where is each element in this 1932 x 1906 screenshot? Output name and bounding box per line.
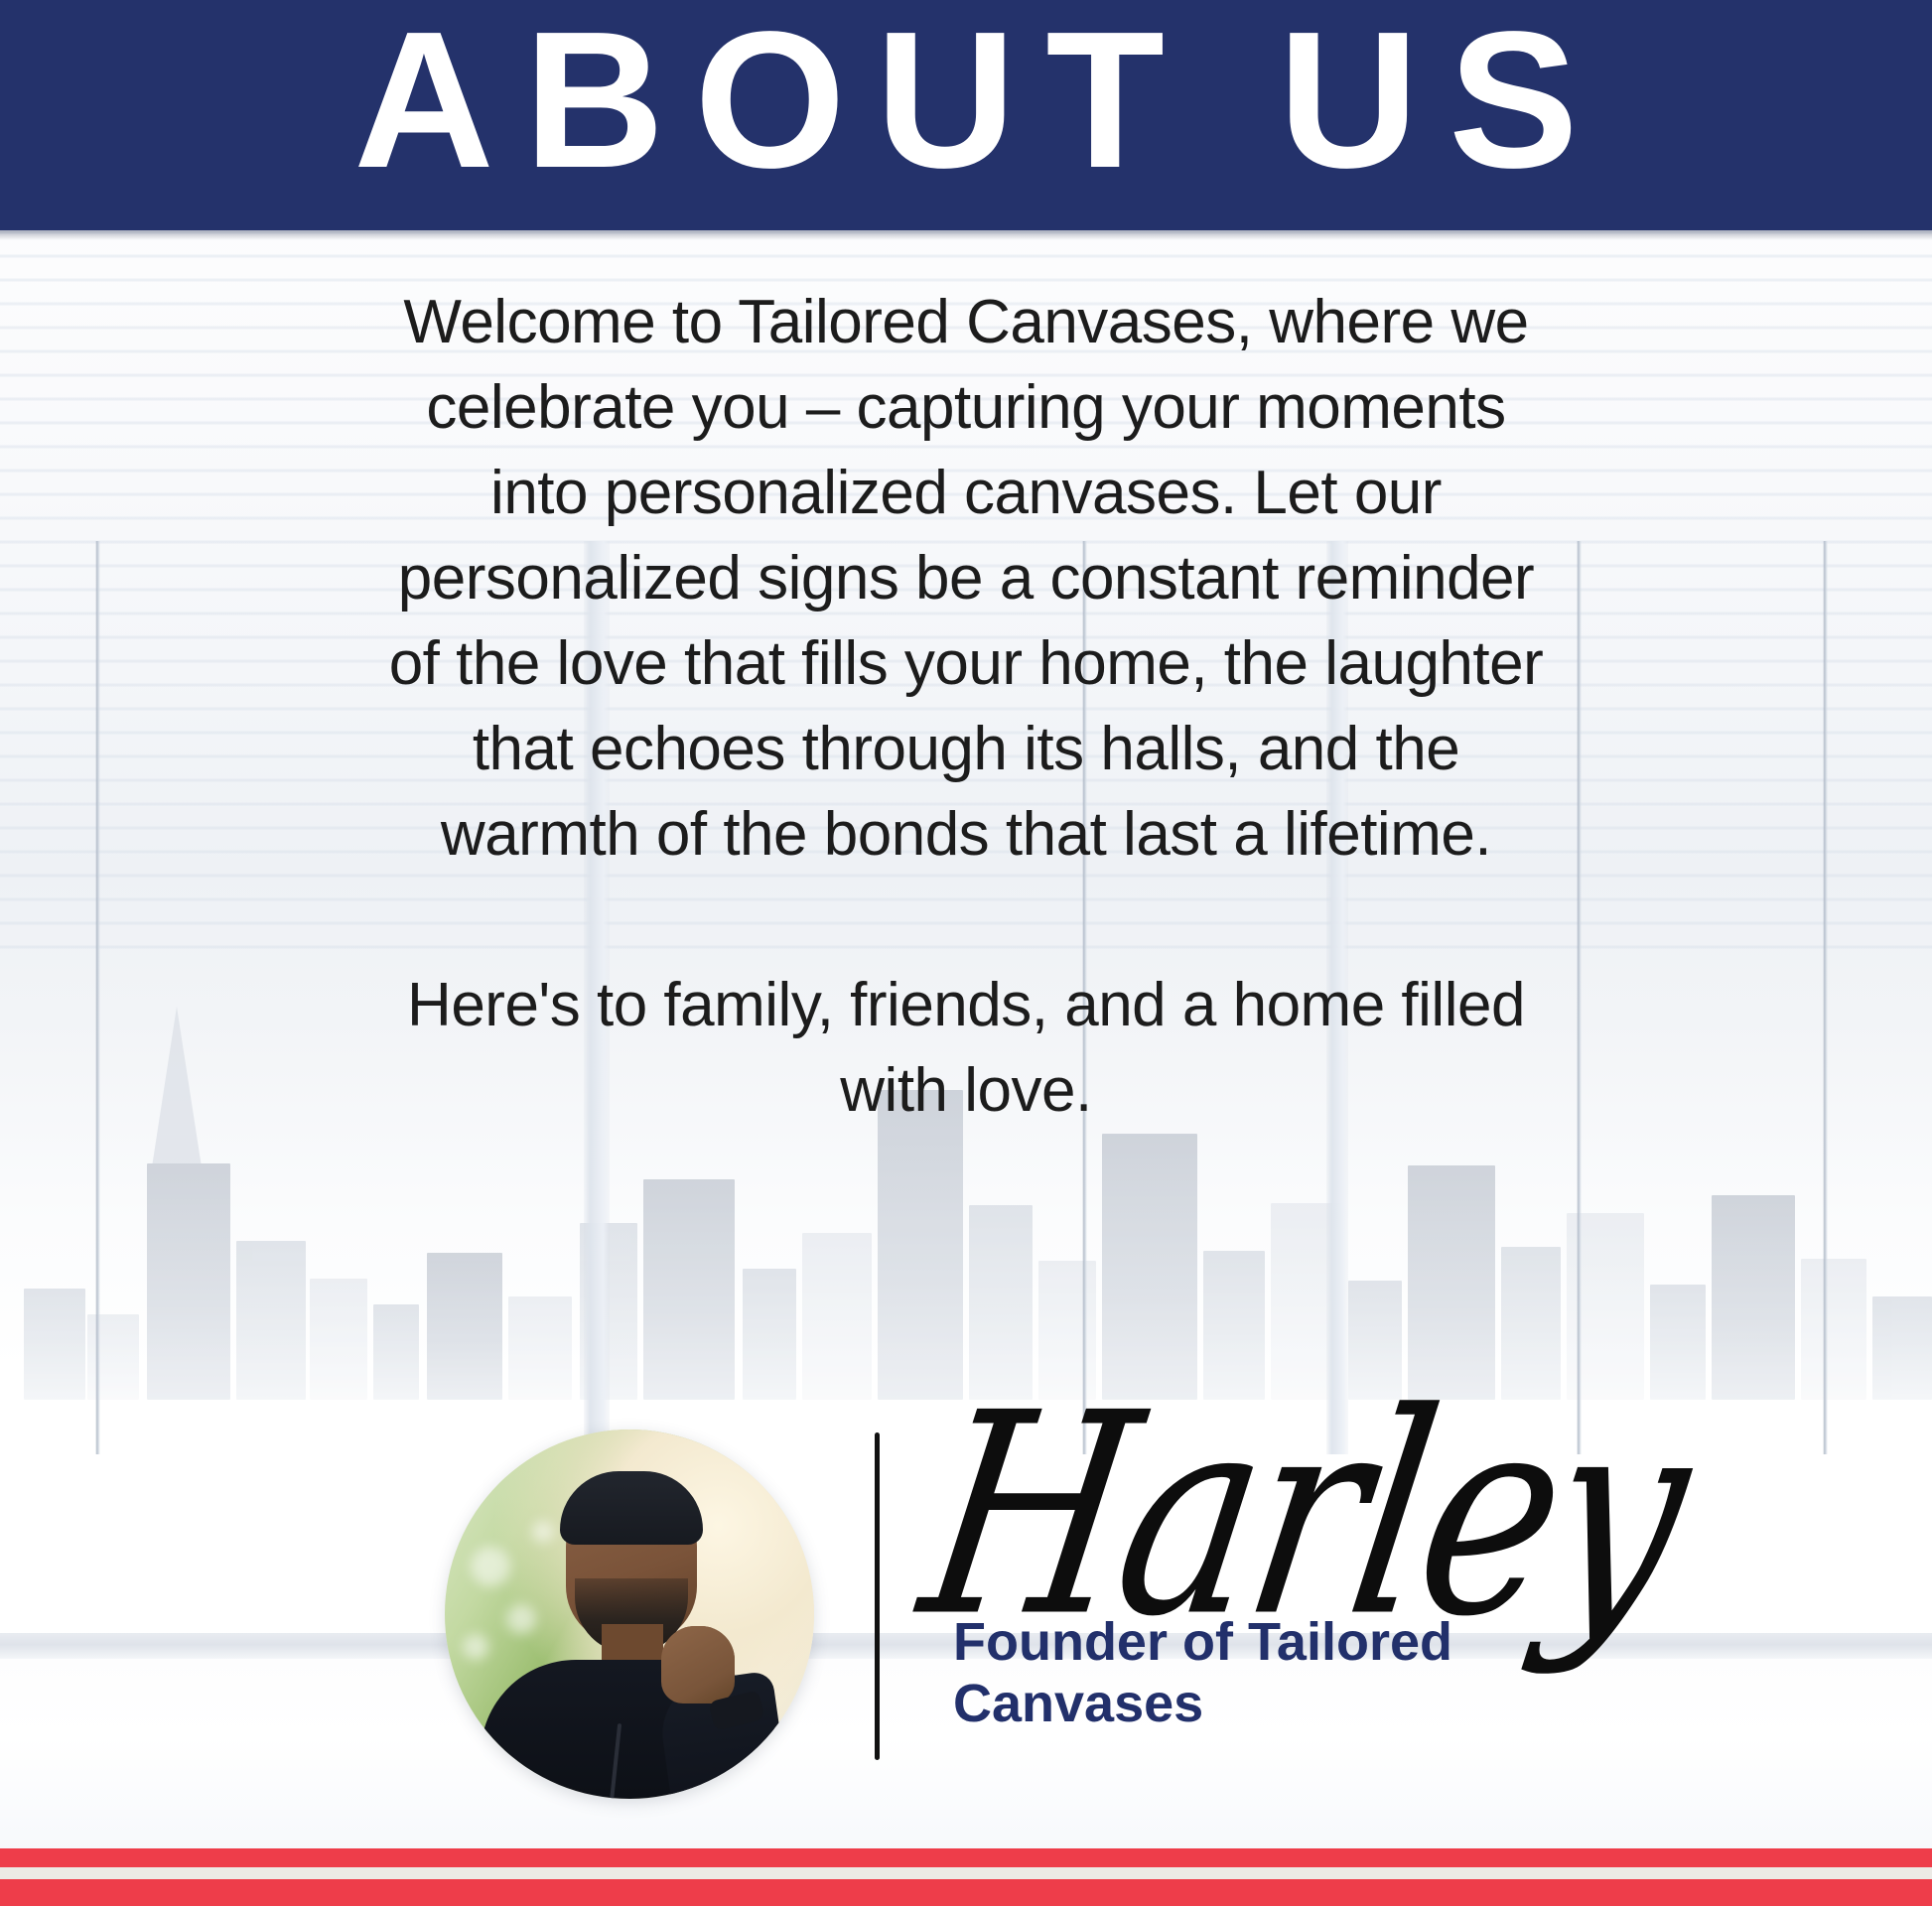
building [643, 1179, 735, 1400]
bokeh-highlight [463, 1634, 488, 1660]
bokeh-highlight [506, 1604, 536, 1634]
building [147, 1163, 230, 1400]
about-paragraph-2: Here's to family, friends, and a home fi… [380, 963, 1552, 1134]
building [310, 1279, 367, 1400]
building [427, 1253, 502, 1400]
building [1801, 1259, 1866, 1400]
building [508, 1296, 572, 1400]
window-mullion [1577, 541, 1582, 1454]
building [24, 1289, 85, 1400]
footer-stripe-bottom [0, 1879, 1932, 1906]
banner-shadow [0, 230, 1932, 240]
page-title: ABOUT US [0, 0, 1932, 222]
building [878, 1090, 963, 1400]
building [802, 1233, 872, 1400]
bokeh-highlight [532, 1521, 554, 1543]
pyramid-tower-icon [151, 1007, 203, 1173]
window-mullion [1823, 541, 1828, 1454]
window-mullion [95, 541, 100, 1454]
vertical-divider [875, 1432, 880, 1760]
founder-block: Harley Founder of Tailored Canvases [0, 1408, 1932, 1844]
hand-shape [661, 1626, 735, 1703]
building [1712, 1195, 1795, 1400]
founder-title-line-1: Founder of Tailored [953, 1611, 1588, 1673]
building [1872, 1296, 1932, 1400]
about-copy: Welcome to Tailored Canvases, where we c… [380, 280, 1552, 1134]
founder-title: Founder of Tailored Canvases [953, 1611, 1588, 1734]
footer-stripe-top [0, 1848, 1932, 1867]
paragraph-spacer [380, 878, 1552, 963]
footer-stripe-gap [0, 1867, 1932, 1879]
building [236, 1241, 306, 1400]
founder-title-line-2: Canvases [953, 1673, 1588, 1734]
building [373, 1304, 419, 1400]
about-us-poster: ABOUT US Welcome to Tailored Canvases, w… [0, 0, 1932, 1906]
founder-portrait-image [445, 1429, 814, 1799]
about-paragraph-1: Welcome to Tailored Canvases, where we c… [380, 280, 1552, 878]
avatar [445, 1429, 814, 1799]
building [743, 1269, 796, 1400]
header-banner: ABOUT US [0, 0, 1932, 230]
bokeh-highlight [471, 1547, 510, 1586]
